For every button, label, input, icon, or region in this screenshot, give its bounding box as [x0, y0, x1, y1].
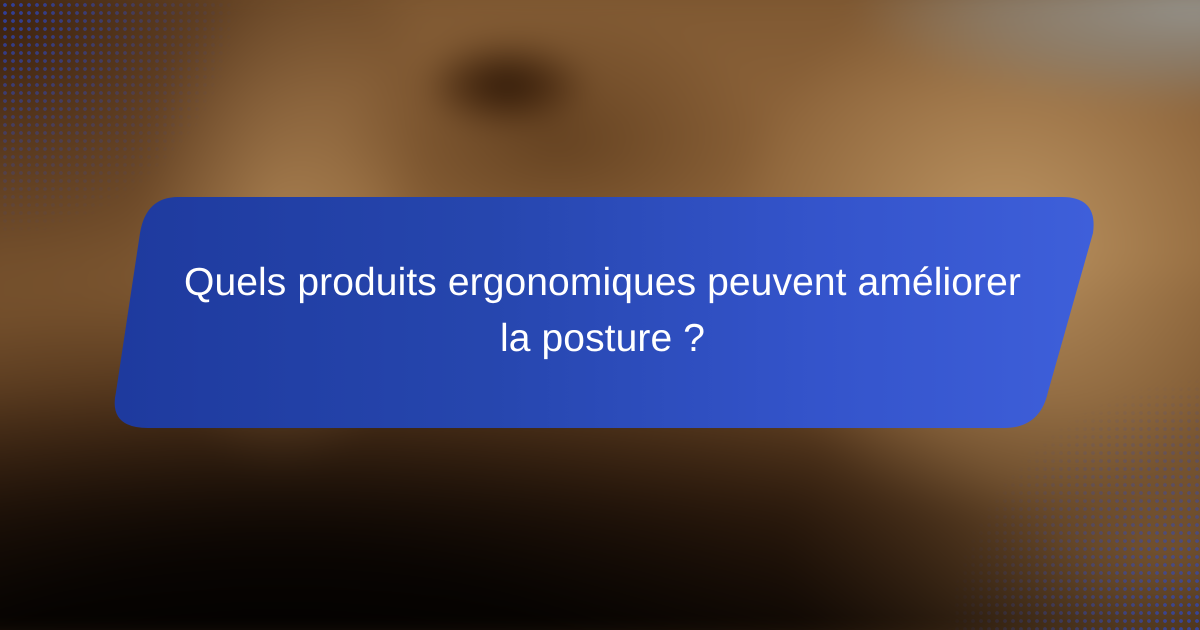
quote-card: Quels produits ergonomiques peuvent amél…	[0, 0, 1200, 630]
social-card-canvas: Quels produits ergonomiques peuvent amél…	[0, 0, 1200, 630]
quote-text: Quels produits ergonomiques peuvent amél…	[175, 255, 1030, 367]
